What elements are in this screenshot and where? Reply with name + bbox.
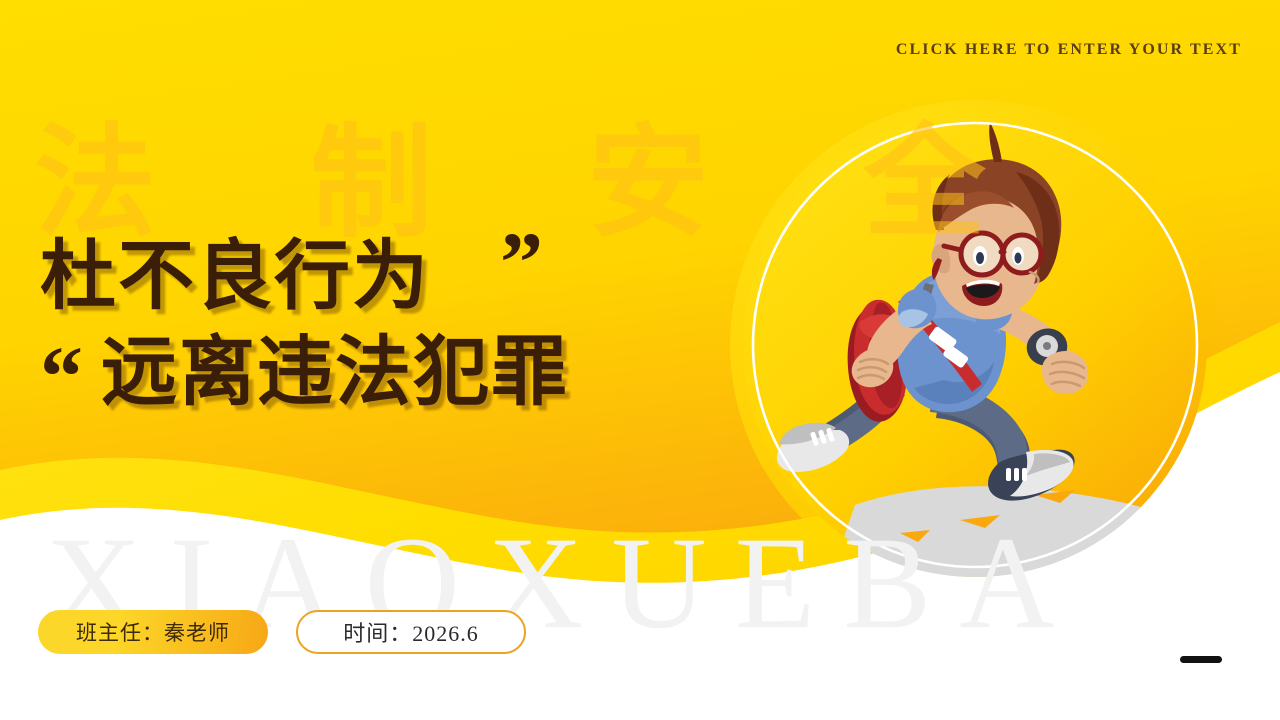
footer-pill-row: 班主任：秦老师 时间：2026.6: [38, 610, 526, 654]
header-placeholder-text[interactable]: CLICK HERE TO ENTER YOUR TEXT: [896, 41, 1242, 59]
teacher-pill[interactable]: 班主任：秦老师: [38, 610, 268, 654]
slide-root: 法 制 安 全 XIAOXUEBA CLICK HERE TO ENTER YO…: [0, 0, 1280, 720]
dash-mark-icon: [1180, 656, 1222, 663]
illustration-scene: [743, 113, 1207, 577]
quote-open-icon: “: [40, 328, 83, 424]
headline-line-2-text[interactable]: 远离违法犯罪: [101, 324, 569, 420]
headline-line-1-text[interactable]: 杜不良行为: [40, 228, 430, 324]
headline-line-1: 杜不良行为”: [40, 228, 740, 324]
headline-block: 杜不良行为” “远离违法犯罪: [40, 228, 740, 420]
headline-line-2: “远离违法犯罪: [40, 324, 740, 420]
quote-close-icon: ”: [500, 214, 543, 310]
date-pill[interactable]: 时间：2026.6: [296, 610, 526, 654]
